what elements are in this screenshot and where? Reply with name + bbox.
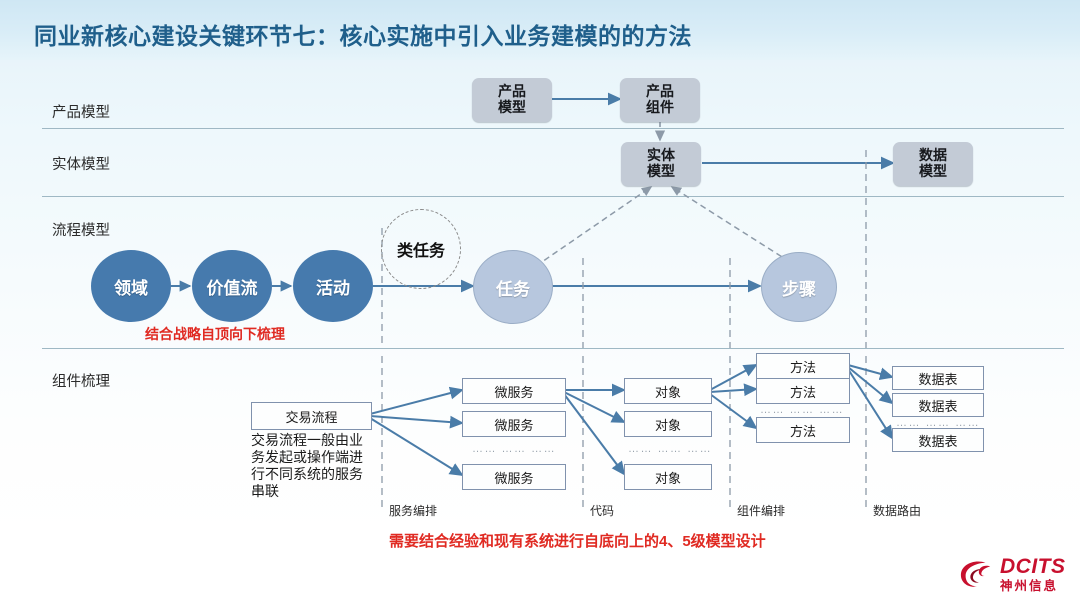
company-logo: DCITS 神州信息 (957, 556, 1066, 593)
domain-circle-label: 领域 (114, 274, 148, 299)
product-model-line2: 模型 (498, 99, 526, 115)
object-label-1: 对象 (655, 382, 681, 401)
microservice-ellipsis: …… …… …… (472, 443, 556, 455)
microservice-box-3[interactable]: 微服务 (462, 464, 566, 490)
domain-circle[interactable]: 领域 (91, 250, 171, 322)
column-label-component-orchestration: 组件编排 (737, 502, 785, 519)
logo-text-cn: 神州信息 (1000, 580, 1066, 593)
value-stream-circle[interactable]: 价值流 (192, 250, 272, 322)
logo-text-en: DCITS (1000, 556, 1066, 577)
row-label-process-model: 流程模型 (52, 219, 110, 240)
entity-model-line1: 实体 (647, 147, 675, 163)
bottom-note: 需要结合经验和现有系统进行自底向上的4、5级模型设计 (389, 530, 766, 551)
row-label-entity-model: 实体模型 (52, 153, 110, 174)
object-label-3: 对象 (655, 468, 681, 487)
data-model-line2: 模型 (919, 163, 947, 179)
microservice-label-3: 微服务 (494, 468, 533, 487)
class-task-circle[interactable]: 类任务 (381, 209, 461, 289)
value-stream-circle-label: 价值流 (207, 274, 258, 299)
task-circle-label: 任务 (496, 275, 530, 300)
data-model-line1: 数据 (919, 147, 947, 163)
activity-circle[interactable]: 活动 (293, 250, 373, 322)
entity-model-line2: 模型 (647, 163, 675, 179)
column-label-service-orchestration: 服务编排 (389, 502, 437, 519)
method-box-1[interactable]: 方法 (756, 353, 850, 379)
transaction-flow-box[interactable]: 交易流程 (251, 402, 372, 430)
dcits-swirl-icon (957, 557, 995, 591)
object-box-2[interactable]: 对象 (624, 411, 712, 437)
data-table-box-3[interactable]: 数据表 (892, 428, 984, 452)
data-model-box[interactable]: 数据模型 (893, 142, 973, 186)
step-circle[interactable]: 步骤 (761, 252, 837, 322)
transaction-flow-label: 交易流程 (285, 407, 337, 426)
method-ellipsis: …… …… …… (760, 404, 844, 416)
entity-model-box[interactable]: 实体模型 (621, 142, 701, 186)
product-model-line1: 产品 (498, 83, 526, 99)
column-label-code: 代码 (590, 502, 614, 519)
class-task-circle-label: 类任务 (397, 237, 445, 261)
page-title: 同业新核心建设关键环节七：核心实施中引入业务建模的的方法 (34, 17, 692, 51)
data-table-label-2: 数据表 (918, 396, 957, 415)
method-box-2[interactable]: 方法 (756, 378, 850, 404)
activity-circle-label: 活动 (316, 274, 350, 299)
data-table-label-1: 数据表 (918, 369, 957, 388)
product-component-box[interactable]: 产品组件 (620, 78, 700, 122)
transaction-flow-caption: 交易流程一般由业务发起或操作端进行不同系统的服务串联 (251, 432, 363, 500)
row-label-product-model: 产品模型 (52, 101, 110, 122)
data-table-box-1[interactable]: 数据表 (892, 366, 984, 390)
column-label-data-routing: 数据路由 (873, 502, 921, 519)
product-component-line1: 产品 (646, 83, 674, 99)
product-model-box[interactable]: 产品模型 (472, 78, 552, 122)
microservice-box-1[interactable]: 微服务 (462, 378, 566, 404)
process-note: 结合战略自顶向下梳理 (145, 324, 285, 344)
object-box-1[interactable]: 对象 (624, 378, 712, 404)
object-ellipsis: …… …… …… (628, 443, 712, 455)
slide-canvas: 同业新核心建设关键环节七：核心实施中引入业务建模的的方法 产品模型 实体模型 流… (0, 0, 1080, 608)
microservice-box-2[interactable]: 微服务 (462, 411, 566, 437)
row-separator-3 (42, 348, 1064, 349)
data-table-label-3: 数据表 (918, 431, 957, 450)
task-circle[interactable]: 任务 (473, 250, 553, 324)
product-component-line2: 组件 (646, 99, 674, 115)
microservice-label-2: 微服务 (494, 415, 533, 434)
object-box-3[interactable]: 对象 (624, 464, 712, 490)
step-circle-label: 步骤 (782, 275, 816, 300)
method-label-3: 方法 (790, 421, 816, 440)
object-label-2: 对象 (655, 415, 681, 434)
row-separator-1 (42, 128, 1064, 129)
row-label-component-sorting: 组件梳理 (52, 370, 110, 391)
data-table-box-2[interactable]: 数据表 (892, 393, 984, 417)
method-label-1: 方法 (790, 357, 816, 376)
method-box-3[interactable]: 方法 (756, 417, 850, 443)
microservice-label-1: 微服务 (494, 382, 533, 401)
row-separator-2 (42, 196, 1064, 197)
method-label-2: 方法 (790, 382, 816, 401)
